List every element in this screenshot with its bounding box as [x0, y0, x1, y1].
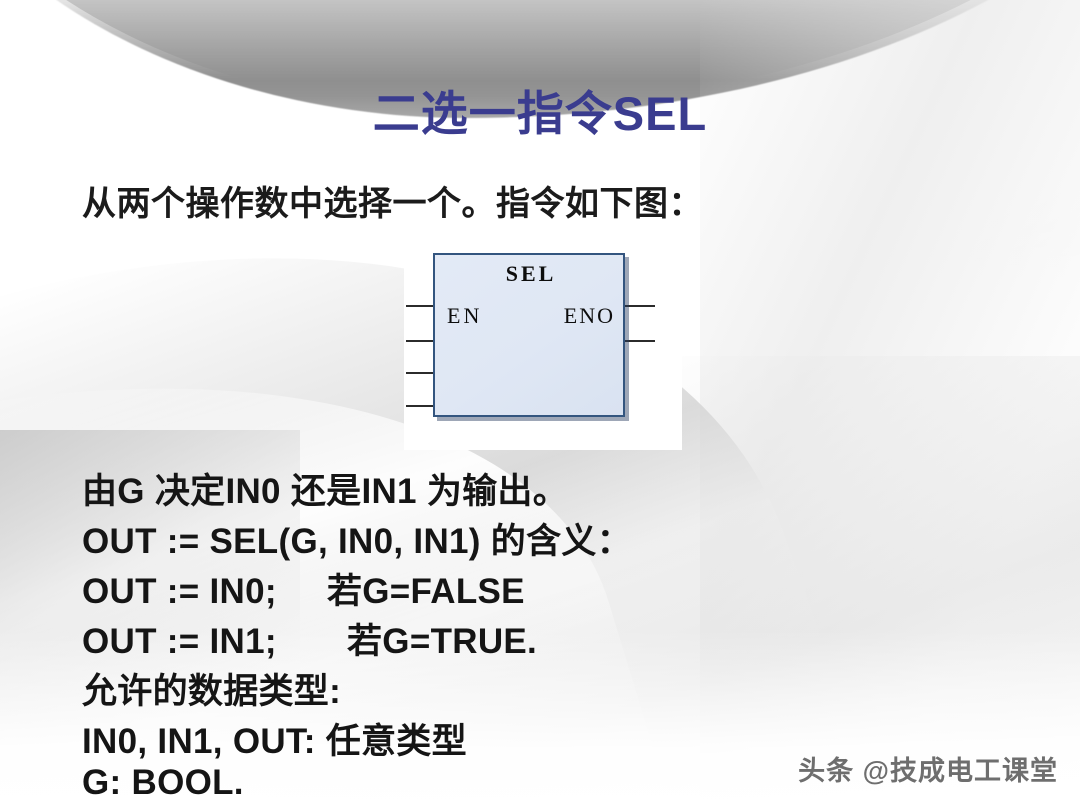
input-pin-3: [406, 372, 435, 374]
body-line-1: 由G 决定IN0 还是IN1 为输出。: [82, 463, 568, 514]
output-pin-1: [625, 305, 655, 307]
output-pin-2: [625, 340, 655, 342]
slide-canvas: 二选一指令SEL 从两个操作数中选择一个。指令如下图： SEL EN ENO 由…: [0, 0, 1080, 810]
page-title: 二选一指令SEL: [0, 88, 1080, 140]
eno-pin-label: ENO: [564, 303, 615, 329]
slide-subtitle: 从两个操作数中选择一个。指令如下图：: [82, 176, 703, 225]
sel-function-block: SEL EN ENO: [433, 253, 625, 417]
en-pin-label: EN: [447, 303, 482, 329]
input-pin-2: [406, 340, 435, 342]
input-pin-1: [406, 305, 435, 307]
body-line-2: OUT := SEL(G, IN0, IN1) 的含义：: [82, 513, 632, 564]
function-block-figure: SEL EN ENO: [404, 231, 682, 450]
body-line-5: 允许的数据类型:: [82, 663, 341, 714]
body-line-6: IN0, IN1, OUT: 任意类型: [82, 713, 467, 764]
body-line-3: OUT := IN0; 若G=FALSE: [82, 563, 525, 614]
watermark-label: 头条 @技成电工课堂: [798, 749, 1058, 788]
function-block-name: SEL: [435, 261, 627, 287]
slide-content: 二选一指令SEL 从两个操作数中选择一个。指令如下图： SEL EN ENO 由…: [0, 0, 1080, 810]
body-line-4: OUT := IN1; 若G=TRUE.: [82, 613, 537, 664]
body-line-7: G: BOOL.: [82, 763, 244, 803]
input-pin-4: [406, 405, 435, 407]
